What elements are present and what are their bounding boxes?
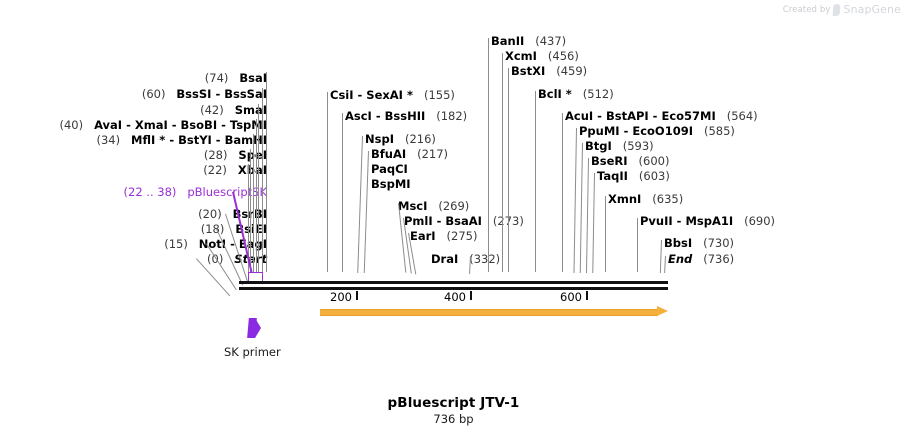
site-position: (216) <box>398 132 436 146</box>
site-label-bsai[interactable]: (74) BsaI <box>0 72 267 84</box>
leader-pvuii <box>637 218 638 272</box>
feature-range: (22 .. 38) <box>124 185 184 199</box>
site-label-bbsi[interactable]: BbsI (730) <box>664 237 734 249</box>
site-enzymes: BseRI <box>591 154 628 168</box>
site-position: (34) <box>96 133 127 147</box>
site-label-xcmi[interactable]: XcmI (456) <box>505 50 579 62</box>
site-position: (564) <box>719 109 757 123</box>
leader-spei <box>250 149 251 272</box>
leader-bsai <box>266 72 267 272</box>
leader-bfuai <box>364 151 370 273</box>
site-position: (437) <box>528 34 566 48</box>
site-enzymes: BstXI <box>511 64 545 78</box>
site-label-paqci[interactable]: PaqCI <box>371 163 408 175</box>
site-label-bfuai[interactable]: BfuAI (217) <box>371 148 448 160</box>
site-label-acui[interactable]: AcuI - BstAPI - Eco57MI (564) <box>565 110 758 122</box>
backbone-strand-top <box>239 281 668 284</box>
site-position: (456) <box>541 49 579 63</box>
leader-acui <box>562 113 563 272</box>
plasmid-length: 736 bp <box>0 412 907 426</box>
sk-primer-label[interactable]: SK primer <box>224 345 281 359</box>
site-position: (217) <box>410 147 448 161</box>
site-position: (273) <box>486 214 524 228</box>
site-enzymes: CsiI - SexAI * <box>330 88 413 102</box>
site-position: (269) <box>431 199 469 213</box>
watermark-prefix: Created by <box>783 5 831 15</box>
site-position: (690) <box>737 214 775 228</box>
leader-smai <box>258 104 259 272</box>
feature-label-pbluescriptsk[interactable]: (22 .. 38) pBluescriptSK <box>0 186 267 198</box>
site-label-bsssi[interactable]: (60) BssSI - BssSaI <box>0 88 267 100</box>
site-label-end[interactable]: End (736) <box>668 253 734 265</box>
site-label-bspmi[interactable]: BspMI <box>371 178 411 190</box>
site-position: (332) <box>462 252 500 266</box>
site-position: (15) <box>164 237 195 251</box>
site-label-btgi[interactable]: BtgI (593) <box>585 140 654 152</box>
site-enzymes: NspI <box>365 132 394 146</box>
site-enzymes: BanII <box>491 34 524 48</box>
ruler-tick-600 <box>586 291 588 300</box>
orf-arrow[interactable] <box>320 306 668 317</box>
site-enzymes: End <box>668 252 692 266</box>
plasmid-backbone[interactable] <box>239 281 668 290</box>
site-label-nspi[interactable]: NspI (216) <box>365 133 436 145</box>
site-label-mfli[interactable]: (34) MflI * - BstYI - BamHI <box>0 134 267 146</box>
site-label-smai[interactable]: (42) SmaI <box>0 104 267 116</box>
leader-bbsi <box>660 240 662 273</box>
site-position: (585) <box>697 124 735 138</box>
site-position: (600) <box>631 154 669 168</box>
leader-bstxi <box>508 68 509 272</box>
site-enzymes: PmlI - BsaAI <box>404 214 482 228</box>
leader-xcmi <box>502 53 503 272</box>
site-label-asci[interactable]: AscI - BssHII (182) <box>345 110 467 122</box>
site-enzymes: BtgI <box>585 139 612 153</box>
orf-arrow-head-icon <box>657 306 668 316</box>
site-position: (28) <box>204 148 235 162</box>
sk-primer-arrow[interactable] <box>248 318 261 338</box>
orf-arrow-shaft <box>320 309 658 316</box>
leader-avai <box>256 119 257 272</box>
ruler-label-600: 600 <box>526 290 582 304</box>
leader-csii <box>327 92 328 272</box>
site-enzymes: XcmI <box>505 49 537 63</box>
ruler-tick-400 <box>470 291 472 300</box>
leader-xmni <box>605 196 606 272</box>
site-label-noti[interactable]: (15) NotI - EagI <box>0 238 267 250</box>
site-enzymes: BclI * <box>538 87 572 101</box>
site-label-drai[interactable]: DraI (332) <box>431 253 500 265</box>
site-label-ppumi[interactable]: PpuMI - EcoO109I (585) <box>579 125 735 137</box>
site-label-xbai[interactable]: (22) XbaI <box>0 164 267 176</box>
site-label-msci[interactable]: MscI (269) <box>398 200 469 212</box>
site-enzymes: BsaI <box>239 71 267 85</box>
snapgene-watermark: Created by SnapGene <box>783 3 901 16</box>
site-position: (42) <box>200 103 231 117</box>
site-position: (603) <box>632 169 670 183</box>
site-enzymes: PaqCI <box>371 162 408 176</box>
leader-bseri <box>586 158 589 273</box>
site-enzymes: PvuII - MspA1I <box>640 214 733 228</box>
site-position: (182) <box>429 109 467 123</box>
ruler-label-200: 200 <box>296 290 352 304</box>
site-label-bcli[interactable]: BclI * (512) <box>538 88 614 100</box>
leader-taqii <box>592 173 595 273</box>
site-label-bstxi[interactable]: BstXI (459) <box>511 65 587 77</box>
site-label-bseri[interactable]: BseRI (600) <box>591 155 669 167</box>
site-enzymes: AcuI - BstAPI - Eco57MI <box>565 109 716 123</box>
site-position: (60) <box>142 87 173 101</box>
leader-btgi <box>580 143 584 273</box>
site-enzymes: EarI <box>410 229 436 243</box>
site-position: (730) <box>696 236 734 250</box>
site-position: (736) <box>696 252 734 266</box>
site-label-spei[interactable]: (28) SpeI <box>0 149 267 161</box>
site-label-avai[interactable]: (40) AvaI - XmaI - BsoBI - TspMI <box>0 119 267 131</box>
leader-end <box>664 256 666 273</box>
site-enzymes: XmnI <box>608 192 641 206</box>
site-label-start[interactable]: (0) Start <box>0 253 267 265</box>
site-label-pvuii[interactable]: PvuII - MspA1I (690) <box>640 215 775 227</box>
site-label-eari[interactable]: EarI (275) <box>410 230 477 242</box>
primer-arrow-head-icon <box>255 318 261 338</box>
site-enzymes: MflI * - BstYI - BamHI <box>131 133 267 147</box>
site-enzymes: TaqII <box>597 169 628 183</box>
site-position: (40) <box>59 118 90 132</box>
ruler-label-400: 400 <box>410 290 466 304</box>
site-enzymes: MscI <box>398 199 427 213</box>
site-enzymes: DraI <box>431 252 458 266</box>
site-enzymes: BfuAI <box>371 147 406 161</box>
site-enzymes: BspMI <box>371 177 411 191</box>
plasmid-map-canvas: Created by SnapGene (74) BsaI (60) BssSI… <box>0 0 907 434</box>
site-position: (74) <box>205 71 236 85</box>
leader-asci <box>342 113 343 272</box>
site-enzymes: AscI - BssHII <box>345 109 425 123</box>
site-label-banii[interactable]: BanII (437) <box>491 35 566 47</box>
page-title: pBluescript JTV-1 <box>0 395 907 411</box>
site-position: (275) <box>439 229 477 243</box>
site-position: (155) <box>417 88 455 102</box>
leader-ppumi <box>573 128 577 273</box>
leader-bsssi <box>262 88 263 272</box>
site-position: (459) <box>549 64 587 78</box>
leader-nspi <box>357 136 363 273</box>
site-label-bsiei[interactable]: (18) BsiEI <box>0 223 267 235</box>
site-position: (22) <box>203 163 234 177</box>
site-position: (512) <box>575 87 613 101</box>
leader-banii <box>488 38 489 272</box>
site-label-taqii[interactable]: TaqII (603) <box>597 170 670 182</box>
site-enzymes: AvaI - XmaI - BsoBI - TspMI <box>94 118 267 132</box>
site-label-pmli[interactable]: PmlI - BsaAI (273) <box>404 215 524 227</box>
leader-bcli <box>535 91 536 272</box>
watermark-brand: SnapGene <box>843 3 901 16</box>
snapgene-logo-icon <box>833 4 841 16</box>
site-position: (635) <box>645 192 683 206</box>
site-label-xmni[interactable]: XmnI (635) <box>608 193 683 205</box>
site-label-csii[interactable]: CsiI - SexAI * (155) <box>330 89 455 101</box>
site-enzymes: BssSI - BssSaI <box>176 87 267 101</box>
site-enzymes: BbsI <box>664 236 692 250</box>
site-position: (593) <box>615 139 653 153</box>
ruler-tick-200 <box>356 291 358 300</box>
leader-mfli <box>253 134 254 272</box>
site-enzymes: PpuMI - EcoO109I <box>579 124 693 138</box>
